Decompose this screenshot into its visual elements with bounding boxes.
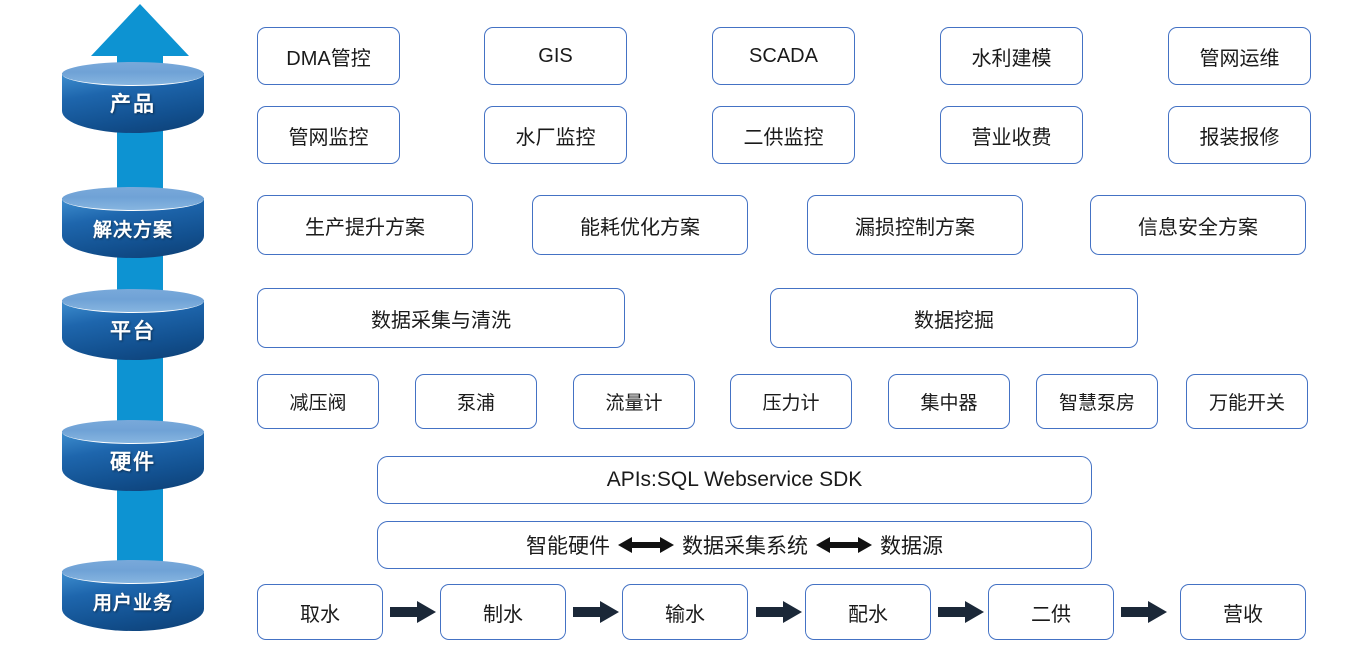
layer-cylinder-platform[interactable]: 平台 xyxy=(62,289,204,371)
platform-box-data-mining[interactable]: 数据挖掘 xyxy=(770,288,1138,348)
hardware-box-universal-switch[interactable]: 万能开关 xyxy=(1186,374,1308,429)
product-box-billing[interactable]: 营业收费 xyxy=(940,106,1083,164)
process-box-water-treatment[interactable]: 制水 xyxy=(440,584,566,640)
hardware-box-pump[interactable]: 泵浦 xyxy=(415,374,537,429)
process-arrow-icon xyxy=(756,601,802,623)
layer-cylinder-hardware[interactable]: 硬件 xyxy=(62,420,204,502)
product-box-waterworks-monitoring[interactable]: 水厂监控 xyxy=(484,106,627,164)
product-box-gis[interactable]: GIS xyxy=(484,27,627,85)
hardware-box-smart-pump-house[interactable]: 智慧泵房 xyxy=(1036,374,1158,429)
layer-label-business: 用户业务 xyxy=(62,571,204,631)
data-flow-bar[interactable]: 智能硬件 数据采集系统 数据源 xyxy=(377,521,1092,569)
product-box-dma[interactable]: DMA管控 xyxy=(257,27,400,85)
product-box-secondary-supply-monitoring[interactable]: 二供监控 xyxy=(712,106,855,164)
layer-cylinder-solution[interactable]: 解决方案 xyxy=(62,187,204,269)
layer-cylinder-product[interactable]: 产品 xyxy=(62,62,204,144)
solution-box-leakage-control[interactable]: 漏损控制方案 xyxy=(807,195,1023,255)
product-box-pipe-network-monitoring[interactable]: 管网监控 xyxy=(257,106,400,164)
layer-label-solution: 解决方案 xyxy=(62,198,204,258)
product-box-pipe-network-ops[interactable]: 管网运维 xyxy=(1168,27,1311,85)
hardware-box-concentrator[interactable]: 集中器 xyxy=(888,374,1010,429)
data-flow-data-source: 数据源 xyxy=(880,530,943,560)
architecture-diagram: 产品 解决方案 平台 硬件 用户业务 DMA管控 GIS SCADA 水利建模 … xyxy=(0,0,1345,653)
hardware-box-pressure-gauge[interactable]: 压力计 xyxy=(730,374,852,429)
process-arrow-icon xyxy=(390,601,436,623)
product-box-hydraulic-model[interactable]: 水利建模 xyxy=(940,27,1083,85)
double-arrow-icon xyxy=(618,536,674,554)
process-arrow-icon xyxy=(573,601,619,623)
process-box-revenue[interactable]: 营收 xyxy=(1180,584,1306,640)
solution-box-production-improvement[interactable]: 生产提升方案 xyxy=(257,195,473,255)
process-box-secondary-supply[interactable]: 二供 xyxy=(988,584,1114,640)
process-box-water-distribution[interactable]: 配水 xyxy=(805,584,931,640)
solution-box-information-security[interactable]: 信息安全方案 xyxy=(1090,195,1306,255)
process-box-water-transmission[interactable]: 输水 xyxy=(622,584,748,640)
data-flow-collection-system: 数据采集系统 xyxy=(682,530,808,560)
process-arrow-icon xyxy=(938,601,984,623)
product-box-installation-repair[interactable]: 报装报修 xyxy=(1168,106,1311,164)
layer-cylinder-business[interactable]: 用户业务 xyxy=(62,560,204,642)
solution-box-energy-optimization[interactable]: 能耗优化方案 xyxy=(532,195,748,255)
platform-box-data-collection-cleansing[interactable]: 数据采集与清洗 xyxy=(257,288,625,348)
data-flow-smart-hardware: 智能硬件 xyxy=(526,530,610,560)
api-bar[interactable]: APIs:SQL Webservice SDK xyxy=(377,456,1092,504)
layer-label-hardware: 硬件 xyxy=(62,431,204,491)
process-arrow-icon xyxy=(1121,601,1167,623)
layer-label-platform: 平台 xyxy=(62,300,204,360)
process-box-water-intake[interactable]: 取水 xyxy=(257,584,383,640)
hardware-box-pressure-reducing-valve[interactable]: 减压阀 xyxy=(257,374,379,429)
double-arrow-icon xyxy=(816,536,872,554)
hardware-box-flow-meter[interactable]: 流量计 xyxy=(573,374,695,429)
product-box-scada[interactable]: SCADA xyxy=(712,27,855,85)
layer-label-product: 产品 xyxy=(62,73,204,133)
